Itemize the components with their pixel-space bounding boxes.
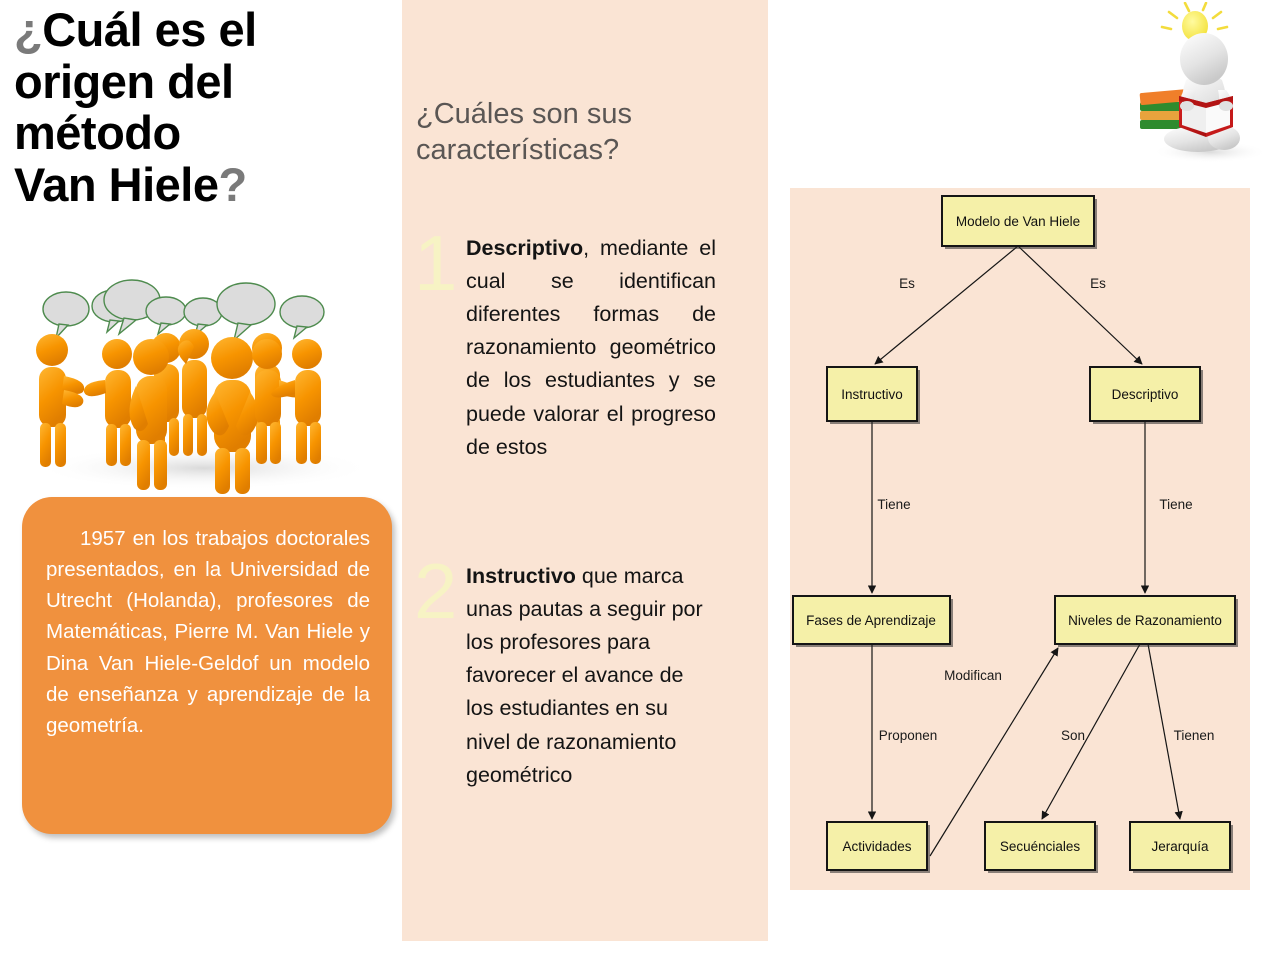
node-label: Fases de Aprendizaje	[806, 613, 936, 628]
feature-lead-2: Instructivo	[466, 564, 576, 588]
edge-label-es-right: Es	[1090, 276, 1106, 291]
orange-people-discussion-icon	[14, 268, 394, 500]
title-line-3: método	[14, 106, 181, 159]
slide-canvas: ¿Cuál es el origen del método Van Hiele?	[0, 0, 1280, 960]
diagram-background	[790, 188, 1250, 890]
title-line-4: Van Hiele	[14, 158, 219, 211]
edge-label-tienen: Tienen	[1174, 728, 1215, 743]
feature-text-2: Instructivo que marca unas pautas a segu…	[466, 560, 716, 792]
node-label: Descriptivo	[1112, 387, 1179, 402]
node-fases-de-aprendizaje[interactable]: Fases de Aprendizaje	[793, 596, 953, 647]
node-jerarquia[interactable]: Jerarquía	[1130, 822, 1233, 873]
node-label: Jerarquía	[1151, 839, 1209, 854]
node-descriptivo[interactable]: Descriptivo	[1090, 367, 1203, 424]
feature-rest-1: , mediante el cual se identifican difere…	[466, 236, 716, 459]
node-label: Modelo de Van Hiele	[956, 214, 1080, 229]
node-instructivo[interactable]: Instructivo	[827, 367, 920, 424]
feature-number-1: 1	[414, 232, 457, 296]
origin-info-box: 1957 en los trabajos doctorales presenta…	[22, 497, 392, 834]
edge-label-son: Son	[1061, 728, 1085, 743]
edge-label-proponen: Proponen	[879, 728, 938, 743]
van-hiele-concept-diagram: Es Es Tiene Tiene Proponen Modifican Son…	[790, 188, 1250, 890]
title-opening-question-mark: ¿	[14, 3, 42, 56]
node-label: Secuénciales	[1000, 839, 1081, 854]
title-line-1: Cuál es el	[42, 3, 256, 56]
edge-label-tiene-right: Tiene	[1159, 497, 1192, 512]
page-title: ¿Cuál es el origen del método Van Hiele?	[14, 4, 394, 211]
left-column: ¿Cuál es el origen del método Van Hiele?	[0, 0, 400, 960]
origin-text: 1957 en los trabajos doctorales presenta…	[46, 523, 370, 741]
edge-label-modifican: Modifican	[944, 668, 1002, 683]
feature-text-1: Descriptivo, mediante el cual se identif…	[466, 232, 716, 464]
feature-rest-2: que marca unas pautas a seguir por los p…	[466, 564, 703, 787]
node-label: Niveles de Razonamiento	[1068, 613, 1222, 628]
node-label: Instructivo	[841, 387, 903, 402]
node-niveles-de-razonamiento[interactable]: Niveles de Razonamiento	[1055, 596, 1238, 647]
feature-lead-1: Descriptivo	[466, 236, 583, 260]
node-actividades[interactable]: Actividades	[827, 822, 930, 873]
characteristics-panel: ¿Cuáles son sus características? 1 Descr…	[402, 0, 768, 941]
node-secuenciales[interactable]: Secuénciales	[985, 822, 1098, 873]
node-label: Actividades	[842, 839, 911, 854]
title-line-2: origen del	[14, 55, 234, 108]
title-closing-question-mark: ?	[219, 158, 247, 211]
edge-label-tiene-left: Tiene	[877, 497, 910, 512]
person-reading-book-with-lightbulb-icon	[1138, 2, 1278, 182]
node-modelo-de-van-hiele[interactable]: Modelo de Van Hiele	[942, 196, 1097, 249]
feature-number-2: 2	[414, 560, 457, 624]
characteristics-heading: ¿Cuáles son sus características?	[416, 96, 716, 169]
edge-label-es-left: Es	[899, 276, 915, 291]
